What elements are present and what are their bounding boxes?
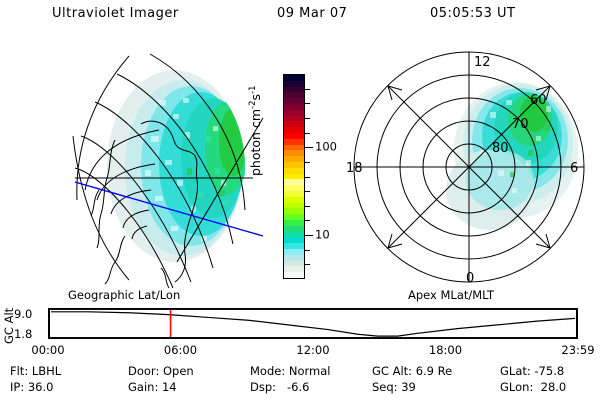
colorbar-axis-title: photon cm-2s-1: [248, 86, 263, 176]
status-field-gc-alt: GC Alt: 6.9 Re: [372, 363, 500, 379]
orbit-xtick-0000: 00:00: [31, 343, 64, 357]
status-row: IP: 36.0Gain: 14Dsp: -6.6Seq: 39GLon: 28…: [10, 379, 594, 395]
observation-time: 05:05:53 UT: [430, 6, 515, 21]
status-field-glat: GLat: -75.8: [500, 363, 590, 379]
mlat-label-60: 60: [530, 93, 547, 108]
mlt-label-6: 6: [570, 161, 578, 176]
colorbar-minor-tick: [305, 118, 310, 119]
mlat-label-80: 80: [492, 141, 509, 156]
colorbar-minor-tick: [305, 177, 310, 178]
status-field-gain: Gain: 14: [128, 379, 250, 395]
orbit-xtick-1200: 12:00: [296, 343, 329, 357]
status-field-seq: Seq: 39: [372, 379, 500, 395]
status-field-mode: Mode: Normal: [250, 363, 372, 379]
colorbar-minor-tick: [305, 162, 310, 163]
status-field-dsp: Dsp: -6.6: [250, 379, 372, 395]
colorbar-band-34: [284, 272, 304, 278]
colorbar-unit-mid: s: [248, 94, 263, 101]
mlt-label-0: 0: [466, 271, 474, 286]
colorbar-minor-tick: [305, 206, 310, 207]
orbit-altitude-plot[interactable]: [48, 308, 578, 339]
colorbar-minor-tick: [305, 103, 310, 104]
orbit-xtick-2359: 23:59: [561, 343, 594, 357]
colorbar-minor-tick: [305, 220, 310, 221]
colorbar-minor-tick: [305, 250, 310, 251]
status-field-ip: IP: 36.0: [10, 379, 128, 395]
colorbar-minor-tick: [305, 89, 310, 90]
colorbar-minor-tick: [305, 264, 310, 265]
colorbar-tick-label-1: 10: [315, 229, 330, 241]
colorbar-unit-main: photon cm: [248, 109, 263, 176]
mlt-label-18: 18: [346, 161, 363, 176]
orbit-xtick-1800: 18:00: [429, 343, 462, 357]
colorbar-unit-exp1: -2: [248, 101, 258, 109]
mlt-label-12: 12: [474, 55, 491, 70]
left-panel-caption: Geographic Lat/Lon: [68, 288, 180, 302]
colorbar-minor-tick: [305, 133, 310, 134]
colorbar-major-tick-1: [305, 235, 313, 236]
status-row: Flt: LBHLDoor: OpenMode: NormalGC Alt: 6…: [10, 363, 594, 379]
colorbar-unit-exp2: -1: [248, 86, 258, 94]
uvi-display: Ultraviolet Imager 09 Mar 07 05:05:53 UT: [0, 0, 600, 400]
aurora-emission-left: [107, 70, 249, 262]
status-field-door: Door: Open: [128, 363, 250, 379]
colorbar-minor-tick: [305, 191, 310, 192]
aurora-emission-right: [446, 82, 578, 230]
instrument-title: Ultraviolet Imager: [52, 6, 179, 21]
status-panel: Flt: LBHLDoor: OpenMode: NormalGC Alt: 6…: [10, 363, 594, 395]
right-panel-caption: Apex MLat/MLT: [408, 288, 494, 302]
colorbar-major-tick-0: [305, 147, 313, 148]
colorbar[interactable]: 10010: [283, 74, 305, 279]
status-field-glon: GLon: 28.0: [500, 379, 590, 395]
orbit-altitude-trace: [51, 312, 575, 336]
orbit-xtick-0600: 06:00: [164, 343, 197, 357]
colorbar-gradient: [283, 74, 305, 279]
apex-mlat-mlt-panel[interactable]: 12 6 0 18 60 70 80: [340, 40, 598, 292]
geographic-aurora-panel[interactable]: [55, 40, 265, 292]
orbit-plot-frame: [49, 309, 576, 337]
observation-date: 09 Mar 07: [277, 6, 347, 21]
colorbar-tick-label-0: 100: [315, 141, 337, 153]
mlat-label-70: 70: [512, 117, 529, 132]
status-field-flt: Flt: LBHL: [10, 363, 128, 379]
